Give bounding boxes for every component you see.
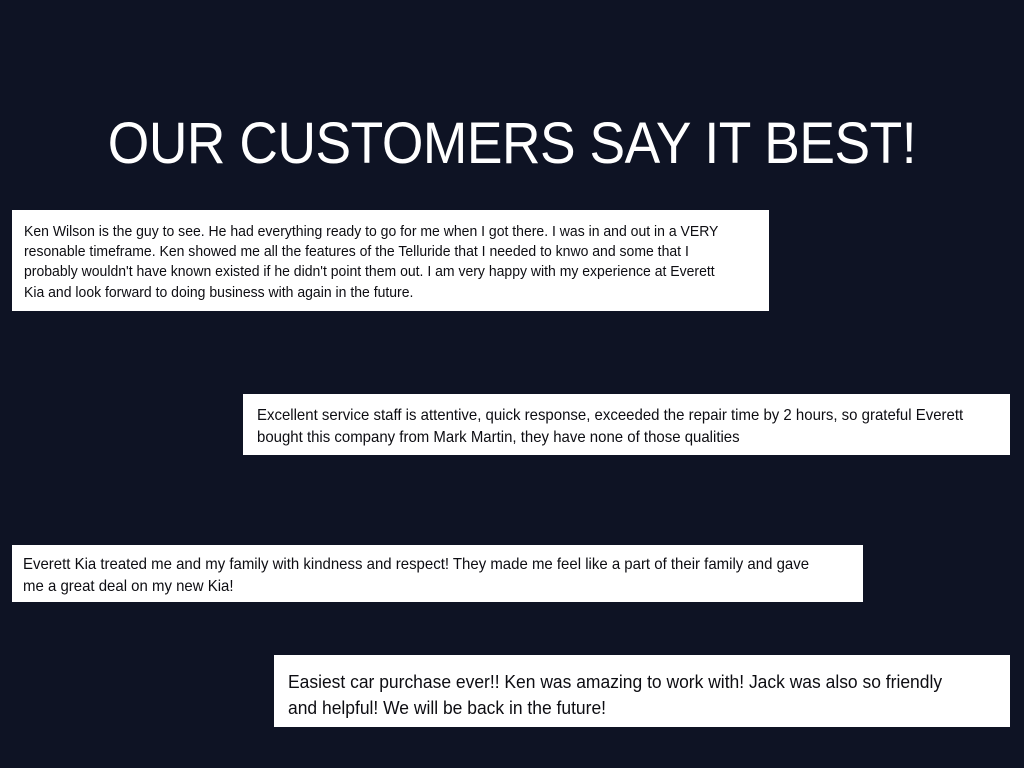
- page-title: OUR CUSTOMERS SAY IT BEST!: [41, 110, 983, 178]
- testimonial-card-4: Easiest car purchase ever!! Ken was amaz…: [274, 655, 1010, 727]
- testimonial-card-2: Excellent service staff is attentive, qu…: [243, 394, 1010, 455]
- testimonial-text-2: Excellent service staff is attentive, qu…: [257, 405, 968, 448]
- testimonial-card-1: Ken Wilson is the guy to see. He had eve…: [12, 210, 769, 311]
- testimonial-card-3: Everett Kia treated me and my family wit…: [12, 545, 863, 602]
- testimonial-text-1: Ken Wilson is the guy to see. He had eve…: [24, 222, 730, 303]
- presentation-slide: OUR CUSTOMERS SAY IT BEST! Ken Wilson is…: [0, 0, 1024, 768]
- testimonial-text-4: Easiest car purchase ever!! Ken was amaz…: [288, 669, 970, 721]
- testimonial-text-3: Everett Kia treated me and my family wit…: [23, 554, 820, 597]
